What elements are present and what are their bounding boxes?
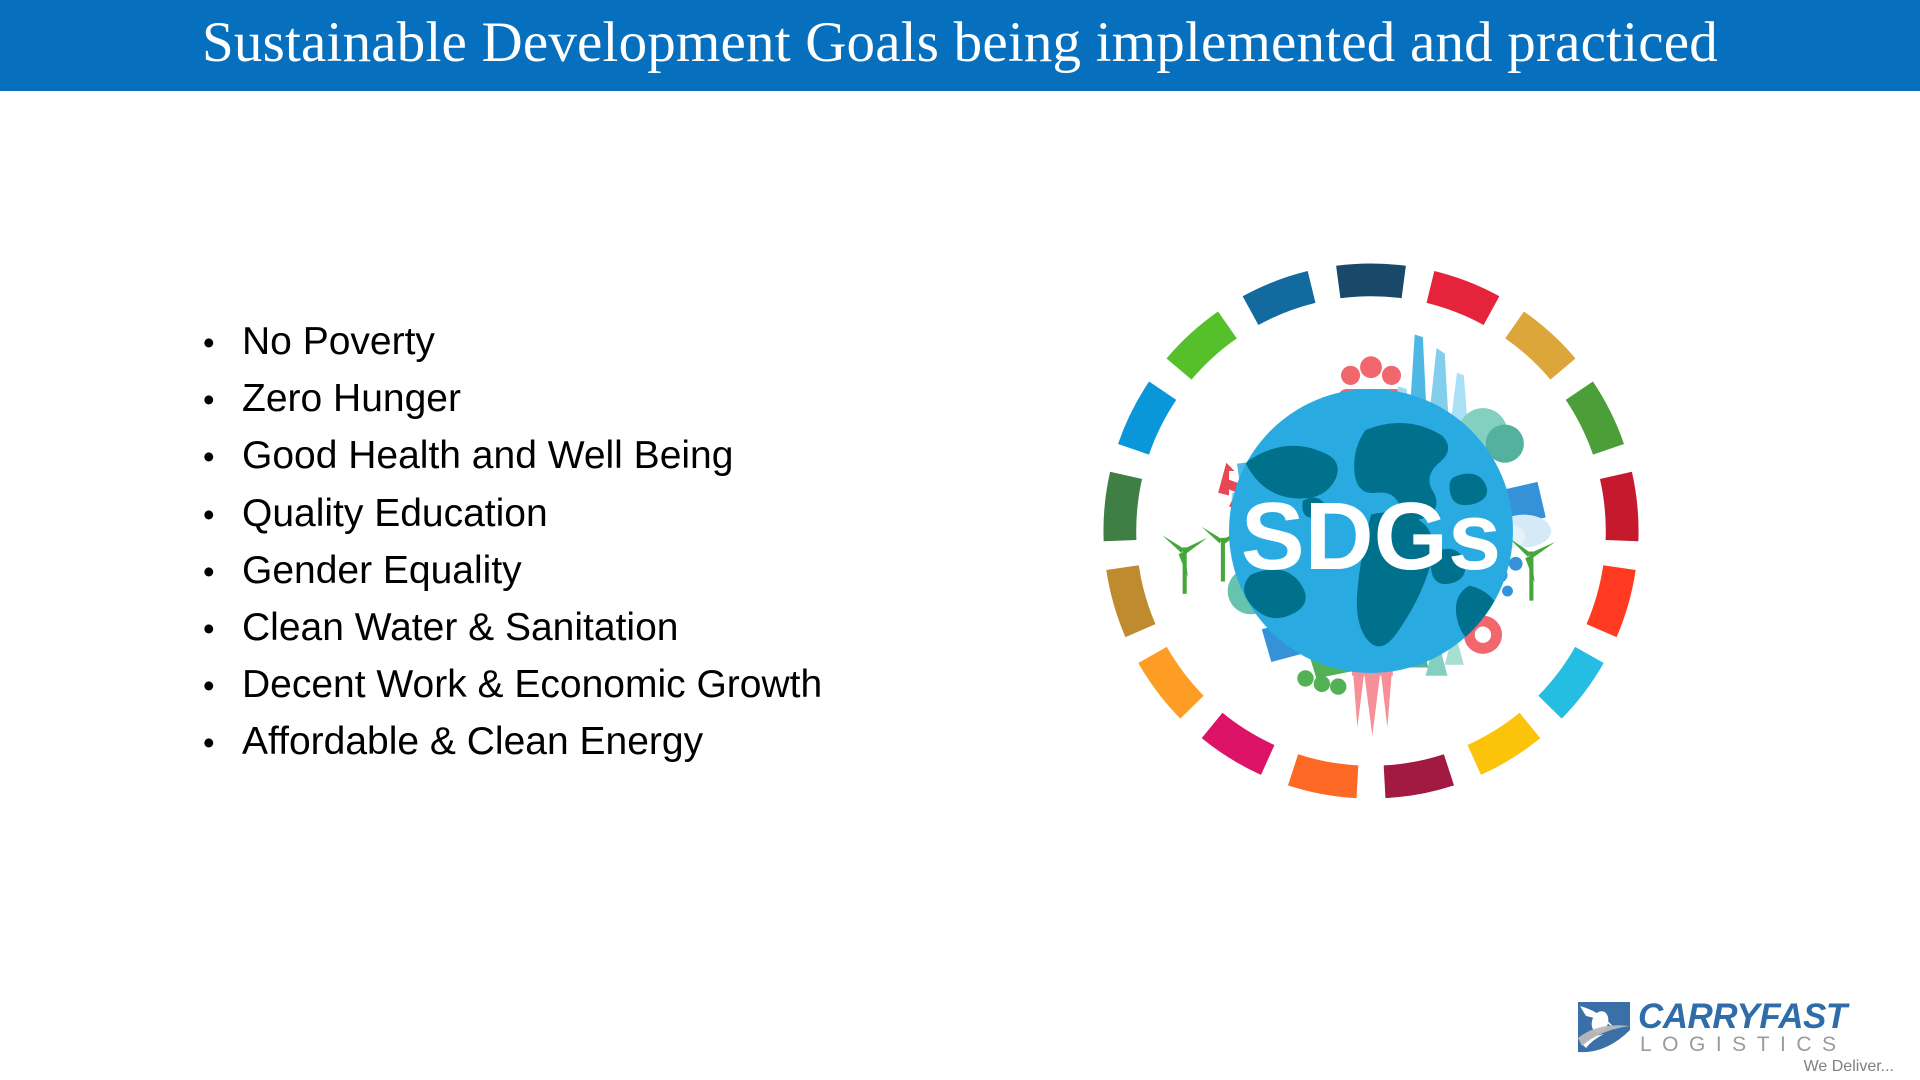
list-item-label: Good Health and Well Being: [242, 436, 733, 475]
list-item: • Zero Hunger: [196, 379, 1016, 436]
sdg-ring-segment: [1288, 754, 1358, 798]
sdg-ring-segment: [1202, 713, 1275, 775]
sdg-ring-segment: [1103, 472, 1142, 541]
bullet-point-icon: •: [196, 555, 242, 588]
sdg-ring-segment: [1167, 311, 1237, 379]
sdg-wheel-logo: SDGs: [1098, 258, 1644, 804]
page-title: Sustainable Development Goals being impl…: [0, 0, 1920, 91]
sdg-ring-segment: [1118, 382, 1176, 455]
list-item-label: Affordable & Clean Energy: [242, 722, 703, 761]
sdg-ring-segment: [1138, 647, 1203, 719]
list-item: • Affordable & Clean Energy: [196, 722, 1016, 779]
list-item-label: No Poverty: [242, 322, 435, 361]
list-item: • Clean Water & Sanitation: [196, 608, 1016, 665]
carryfast-tagline: We Deliver...: [1804, 1058, 1894, 1076]
list-item-label: Clean Water & Sanitation: [242, 608, 678, 647]
carryfast-logo: CARRYFAST LOGISTICS We Deliver...: [1576, 1000, 1906, 1080]
carryfast-logo-mark-icon: [1576, 1000, 1632, 1054]
list-item-label: Gender Equality: [242, 551, 522, 590]
bullet-point-icon: •: [196, 326, 242, 359]
list-item-label: Decent Work & Economic Growth: [242, 665, 822, 704]
bullet-point-icon: •: [196, 726, 242, 759]
bullet-point-icon: •: [196, 498, 242, 531]
sdg-ring-segment: [1384, 754, 1454, 798]
sdg-ring-segment: [1600, 472, 1639, 541]
bullet-point-icon: •: [196, 440, 242, 473]
carryfast-brand-text: CARRYFAST: [1638, 1001, 1847, 1033]
list-item: • Decent Work & Economic Growth: [196, 665, 1016, 722]
bullet-point-icon: •: [196, 669, 242, 702]
list-item: • Good Health and Well Being: [196, 436, 1016, 493]
sdg-bullet-list: • No Poverty • Zero Hunger • Good Health…: [196, 322, 1016, 780]
sdg-ring-segment: [1106, 565, 1155, 637]
slide-canvas: Sustainable Development Goals being impl…: [0, 0, 1920, 1080]
list-item: • No Poverty: [196, 322, 1016, 379]
sdg-ring-segment: [1505, 311, 1575, 379]
bullet-point-icon: •: [196, 383, 242, 416]
carryfast-subbrand-text: LOGISTICS: [1638, 1033, 1847, 1056]
sdg-ring-segment: [1336, 263, 1406, 298]
list-item-label: Quality Education: [242, 494, 548, 533]
sdg-ring-segment: [1243, 271, 1316, 325]
title-bar: Sustainable Development Goals being impl…: [0, 0, 1920, 91]
list-item: • Quality Education: [196, 494, 1016, 551]
sdg-ring-segment: [1566, 382, 1624, 455]
sdg-ring-segment: [1587, 565, 1636, 637]
bullet-point-icon: •: [196, 612, 242, 645]
sdg-ring-segment: [1468, 713, 1541, 775]
list-item: • Gender Equality: [196, 551, 1016, 608]
sdgs-wordmark: SDGs: [1241, 484, 1501, 590]
list-item-label: Zero Hunger: [242, 379, 461, 418]
sdg-ring-segment: [1427, 271, 1500, 325]
sdg-ring-segment: [1538, 647, 1603, 719]
